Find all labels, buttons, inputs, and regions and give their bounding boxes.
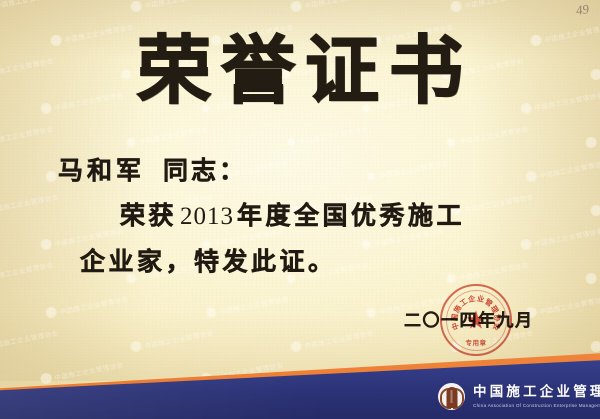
recipient-name: 马和军 xyxy=(58,156,145,185)
signature-area: 中国施工企业管理协会 ★ 专用章 二〇一四年九月 xyxy=(396,284,546,364)
recipient-suffix: 同志 xyxy=(163,156,219,185)
footer-branding: 中国施工企业管理协会 China Association Of Construc… xyxy=(438,383,600,410)
award-line: 荣获2013年度全国优秀施工 xyxy=(58,193,558,239)
seal-arc-char: 中 xyxy=(450,321,462,331)
award-prefix: 荣获 xyxy=(120,201,177,230)
footer-org-name-cn: 中国施工企业管理协会 xyxy=(473,385,600,400)
certificate-body: 马和军同志： 荣获2013年度全国优秀施工 企业家，特发此证。 xyxy=(58,148,558,284)
recipient-colon: ： xyxy=(219,156,247,185)
seal-star-icon: ★ xyxy=(464,308,489,333)
award-year: 2013 xyxy=(177,203,237,230)
footer-org-name-en: China Association Of Construction Enterp… xyxy=(473,403,600,408)
seal-bottom-text: 专用章 xyxy=(442,337,510,347)
recipient-line: 马和军同志： xyxy=(58,148,558,193)
page-title: 荣誉证书 xyxy=(0,34,600,108)
award-suffix: 年度全国优秀施工 xyxy=(237,201,465,230)
corner-handwritten-mark: 49 xyxy=(575,1,590,19)
award-line-continued: 企业家，特发此证。 xyxy=(58,239,558,284)
seal-arc-char: 会 xyxy=(490,321,502,331)
footer-org-text: 中国施工企业管理协会 China Association Of Construc… xyxy=(473,385,600,407)
association-emblem-icon xyxy=(438,383,465,410)
official-seal: 中国施工企业管理协会 ★ 专用章 xyxy=(440,284,512,356)
certificate-page: 中国施工企业管理协会中国施工企业管理协会中国施工企业管理协会中国施工企业管理协会… xyxy=(0,0,600,419)
